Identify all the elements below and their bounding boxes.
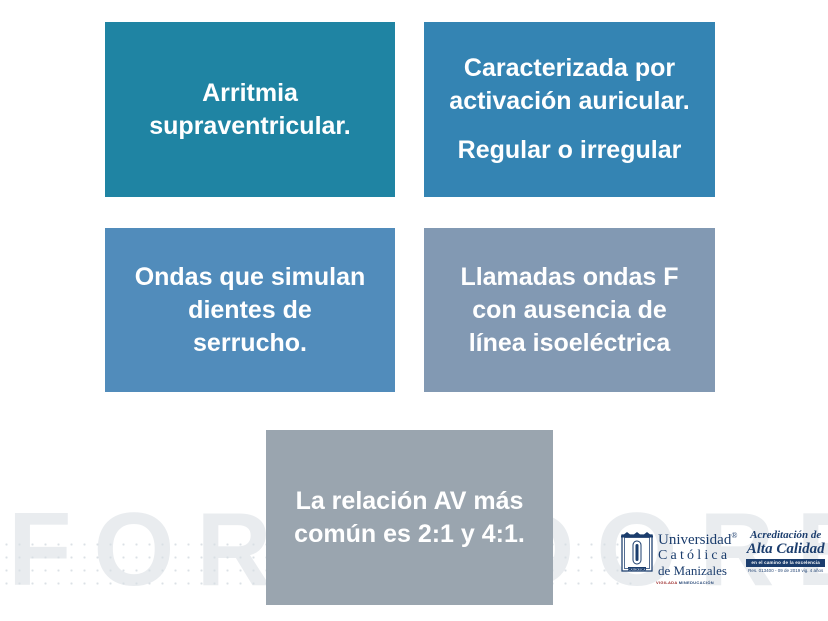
box-arritmia: Arritmia supraventricular. — [105, 22, 395, 197]
box-relacion-paragraph-1: La relación AV más común es 2:1 y 4:1. — [266, 485, 553, 551]
box-caracterizada: Caracterizada por activación auricular. … — [424, 22, 715, 197]
accreditation-line-1: Acreditación de — [746, 530, 825, 542]
university-tagline-bold: VIGILADA — [656, 580, 677, 585]
university-tagline-rest: MINEDUCACIÓN — [679, 580, 714, 585]
accreditation-resolution: Res. 013400 - 09 de 2019 vig. 4 años — [746, 569, 825, 574]
university-wordmark: Universidad® Católica de Manizales — [658, 528, 737, 577]
accreditation-bar-text: en el camino de la excelencia — [746, 559, 825, 567]
box-caracterizada-line-1: Caracterizada por — [424, 52, 715, 85]
box-caracterizada-line-2: activación auricular. — [424, 85, 715, 118]
box-ondas-paragraph-1: Ondas que simulan dientes de serrucho. — [105, 261, 395, 360]
university-name-line-1: Universidad® — [658, 532, 737, 548]
logo-strip: CATHOLICA Universidad® Católica de Maniz… — [620, 528, 825, 594]
box-arritmia-paragraph-1: Arritmia supraventricular. — [105, 77, 395, 143]
box-ondas-line-2: dientes de — [105, 294, 395, 327]
box-llamadas-line-3: línea isoeléctrica — [424, 327, 715, 360]
box-caracterizada-paragraph-1: Caracterizada por activación auricular. — [424, 52, 715, 118]
accreditation-line-2: Alta Calidad — [746, 542, 825, 558]
accreditation-logo: Acreditación de Alta Calidad en el camin… — [746, 530, 825, 574]
box-llamadas-paragraph-1: Llamadas ondas F con ausencia de línea i… — [424, 261, 715, 360]
box-ondas-line-1: Ondas que simulan — [105, 261, 395, 294]
box-llamadas-line-2: con ausencia de — [424, 294, 715, 327]
box-relacion: La relación AV más común es 2:1 y 4:1. — [266, 430, 553, 605]
registered-mark-icon: ® — [731, 531, 737, 540]
box-caracterizada-line-3: Regular o irregular — [424, 134, 715, 167]
box-ondas: Ondas que simulan dientes de serrucho. — [105, 228, 395, 392]
university-name-text: Universidad — [658, 532, 731, 548]
box-llamadas-line-1: Llamadas ondas F — [424, 261, 715, 294]
box-arritmia-line-2: supraventricular. — [105, 110, 395, 143]
box-arritmia-line-1: Arritmia — [105, 77, 395, 110]
box-relacion-line-2: común es 2:1 y 4:1. — [266, 518, 553, 551]
box-ondas-line-3: serrucho. — [105, 327, 395, 360]
university-name-line-3: de Manizales — [658, 564, 737, 577]
box-relacion-line-1: La relación AV más — [266, 485, 553, 518]
box-llamadas: Llamadas ondas F con ausencia de línea i… — [424, 228, 715, 392]
university-crest-icon: CATHOLICA — [620, 530, 654, 576]
box-caracterizada-paragraph-2: Regular o irregular — [424, 134, 715, 167]
university-tagline: VIGILADA MINEDUCACIÓN — [656, 580, 714, 585]
svg-text:CATHOLICA: CATHOLICA — [629, 568, 647, 572]
universidad-catolica-manizales-logo: CATHOLICA Universidad® Católica de Maniz… — [620, 528, 737, 577]
slide-canvas: FORMADORES Arritmia supraventricular. Ca… — [0, 0, 828, 621]
university-name-line-2: Católica — [658, 549, 737, 563]
